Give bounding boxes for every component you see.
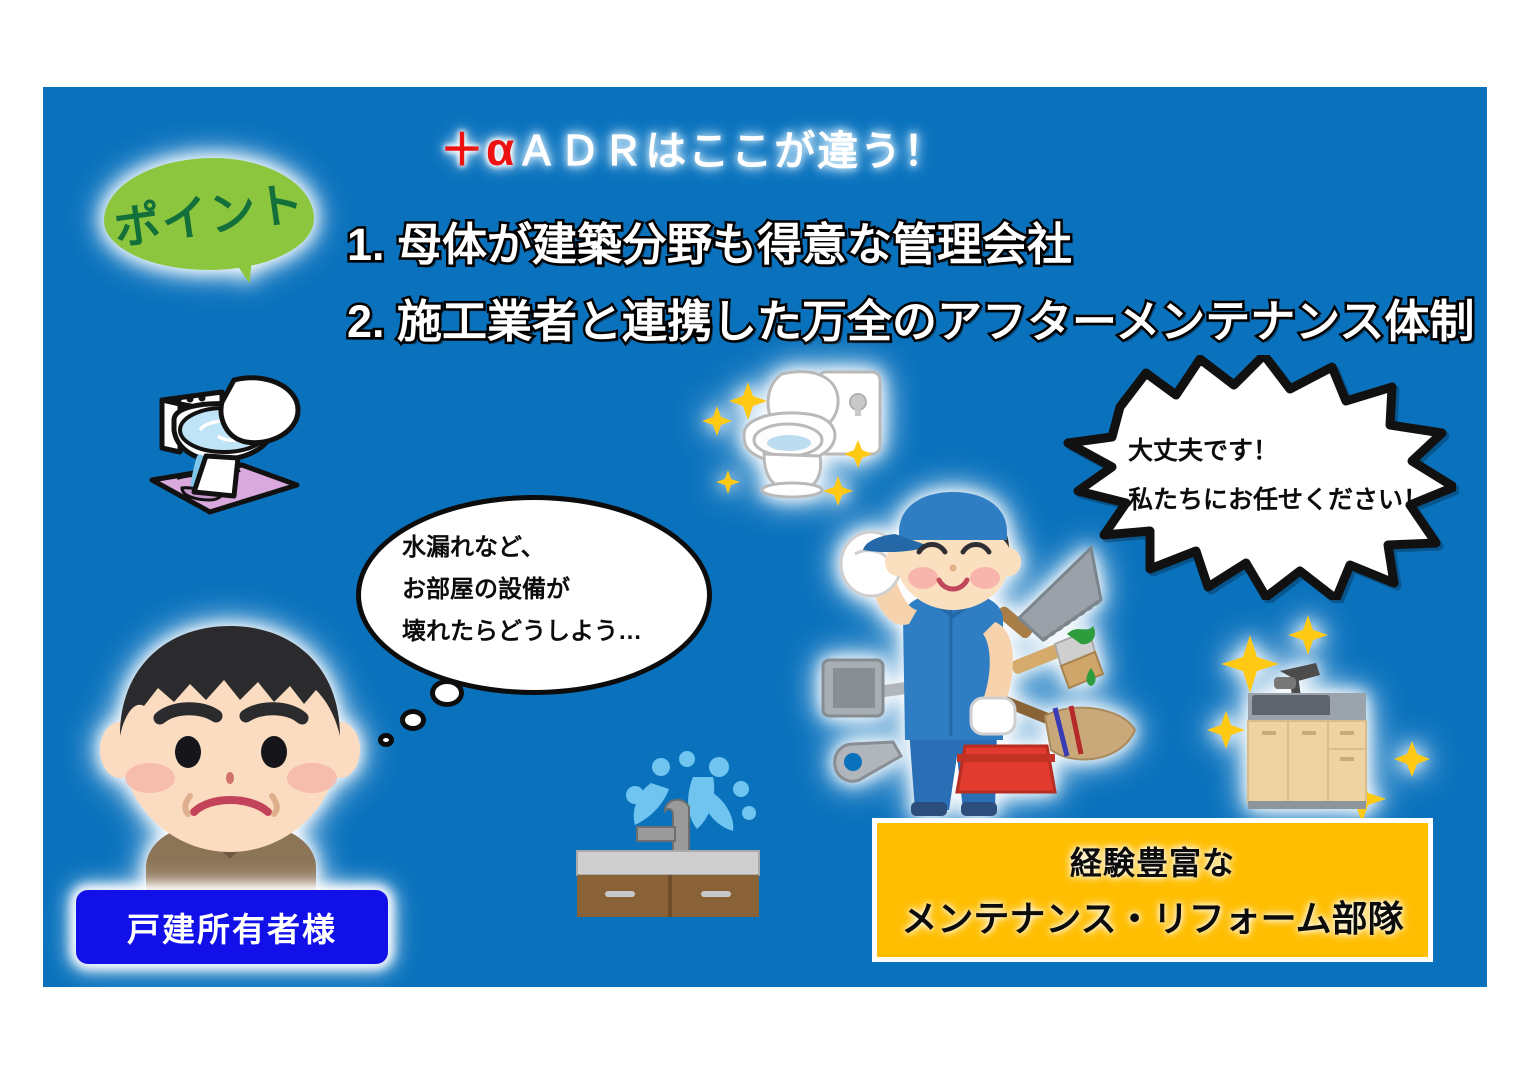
page-title: ＋αＡＤＲはここが違う！ <box>440 126 946 173</box>
page-title-text: ＡＤＲはここが違う！ <box>516 128 946 174</box>
plus-sign: ＋ <box>440 126 486 175</box>
owner-label-badge: 戸建所有者様 <box>76 890 388 964</box>
spiky-line-2: 私たちにお任せください！ <box>1128 476 1438 525</box>
slide-canvas: ＋αＡＤＲはここが違う！ ポイント 1. 母体が建築分野も得意な管理会社 2. … <box>0 0 1528 1080</box>
thought-line-3: 壊れたらどうしよう… <box>402 611 692 653</box>
thought-bubble: 水漏れなど、 お部屋の設備が 壊れたらどうしよう… <box>356 495 712 695</box>
thought-bubble-text: 水漏れなど、 お部屋の設備が 壊れたらどうしよう… <box>402 527 692 653</box>
overflowing-toilet-icon <box>122 360 307 530</box>
spiky-speech-bubble: 大丈夫です！ 私たちにお任せください！ <box>1050 355 1456 600</box>
thought-tail-2 <box>400 709 426 731</box>
point-badge-label: ポイント <box>97 144 321 284</box>
spiky-bubble-text: 大丈夫です！ 私たちにお任せください！ <box>1128 427 1438 525</box>
broken-faucet-icon <box>565 745 770 920</box>
point-badge: ポイント <box>104 158 314 270</box>
worried-man-illustration <box>78 600 383 910</box>
owner-label-text: 戸建所有者様 <box>127 903 337 951</box>
thought-line-2: お部屋の設備が <box>402 569 692 611</box>
maintenance-team-line-2: メンテナンス・リフォーム部隊 <box>901 890 1403 942</box>
clean-kitchen-sink-icon <box>1190 615 1445 820</box>
alpha-sign: α <box>486 123 516 175</box>
maintenance-team-badge: 経験豊富な メンテナンス・リフォーム部隊 <box>872 818 1433 962</box>
thought-tail-1 <box>430 679 464 707</box>
point-item-2: 2. 施工業者と連携した万全のアフターメンテナンス体制 <box>347 299 1474 344</box>
thought-tail-3 <box>378 733 394 747</box>
point-item-1: 1. 母体が建築分野も得意な管理会社 <box>347 222 1072 267</box>
thought-line-1: 水漏れなど、 <box>402 527 692 569</box>
spiky-line-1: 大丈夫です！ <box>1128 427 1438 476</box>
maintenance-team-line-1: 経験豊富な <box>1070 838 1235 884</box>
